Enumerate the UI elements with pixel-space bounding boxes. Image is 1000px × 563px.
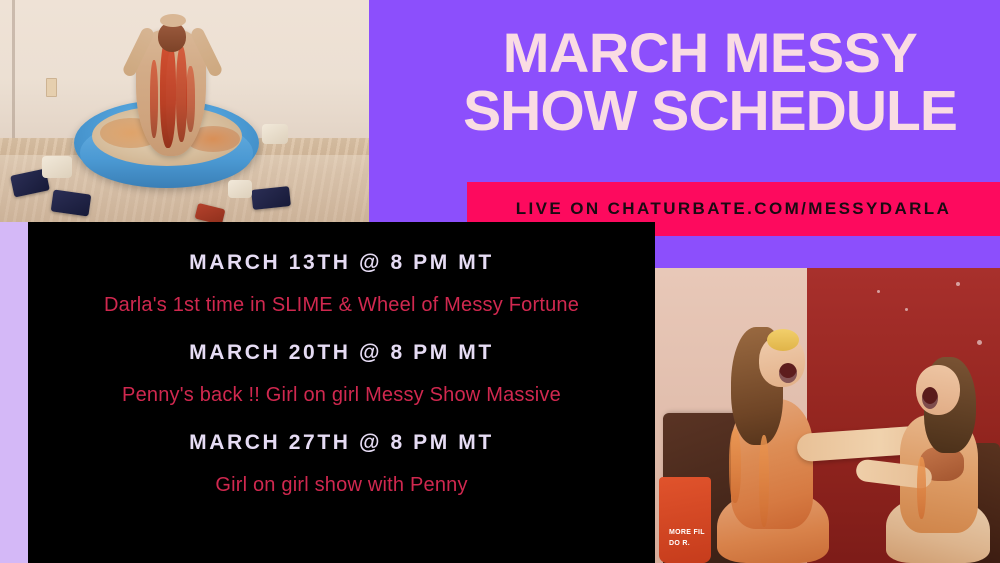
photo-slime-drip-2 [759,435,769,527]
photo-bucket-label: MORE FIL DO R. [669,528,711,549]
photo-speck-1 [956,282,960,286]
schedule-panel: MARCH 13TH @ 8 PM MT Darla's 1st time in… [28,222,655,563]
photo-red-drip-3 [150,60,158,138]
schedule-description-2: Penny's back !! Girl on girl Messy Show … [28,385,655,405]
photo-slime-drip-1 [729,429,741,503]
photo-wall-corner [12,0,15,140]
headline-line-1: MARCH MESSY [420,24,1000,82]
schedule-date-3: MARCH 27TH @ 8 PM MT [28,432,655,453]
photo-wall-outlet [46,78,57,97]
photo-person-hands [160,14,186,27]
photo-woman-right [868,343,994,563]
poster-headline: MARCH MESSY SHOW SCHEDULE [420,24,1000,140]
photo-red-drip-4 [186,66,195,132]
live-url-text: LIVE ON CHATURBATE.COM/MESSYDARLA [516,199,952,219]
photo-slime-pool [0,0,369,222]
photo-foam-1 [42,156,72,178]
photo-speck-2 [905,308,908,311]
schedule-description-3: Girl on girl show with Penny [28,475,655,495]
photo-speck-4 [877,290,880,293]
schedule-entry-3: MARCH 27TH @ 8 PM MT Girl on girl show w… [28,432,655,495]
schedule-date-2: MARCH 20TH @ 8 PM MT [28,342,655,363]
photo-two-women-messy: MORE FIL DO R. [655,268,1000,563]
photo-red-drip-1 [160,36,176,148]
photo-woman-left-mouth [779,363,797,383]
purple-gap-band [655,236,1000,269]
headline-line-2: SHOW SCHEDULE [420,82,1000,141]
schedule-date-1: MARCH 13TH @ 8 PM MT [28,252,655,273]
schedule-description-1: Darla's 1st time in SLIME & Wheel of Mes… [28,295,655,315]
lavender-left-strip [0,222,28,563]
photo-orange-bucket: MORE FIL DO R. [659,477,711,563]
schedule-entry-1: MARCH 13TH @ 8 PM MT Darla's 1st time in… [28,252,655,342]
photo-foam-3 [228,180,252,198]
photo-woman-right-mouth [922,387,938,409]
messy-show-schedule-poster: MARCH MESSY SHOW SCHEDULE LIVE ON CHATUR… [0,0,1000,563]
photo-slime-drip-3 [917,457,926,519]
photo-woman-right-head [916,365,960,415]
photo-foam-2 [262,124,288,144]
schedule-entry-2: MARCH 20TH @ 8 PM MT Penny's back !! Gir… [28,342,655,432]
photo-woman-left-goo [767,329,799,351]
photo-floor-tray-3 [251,186,291,210]
